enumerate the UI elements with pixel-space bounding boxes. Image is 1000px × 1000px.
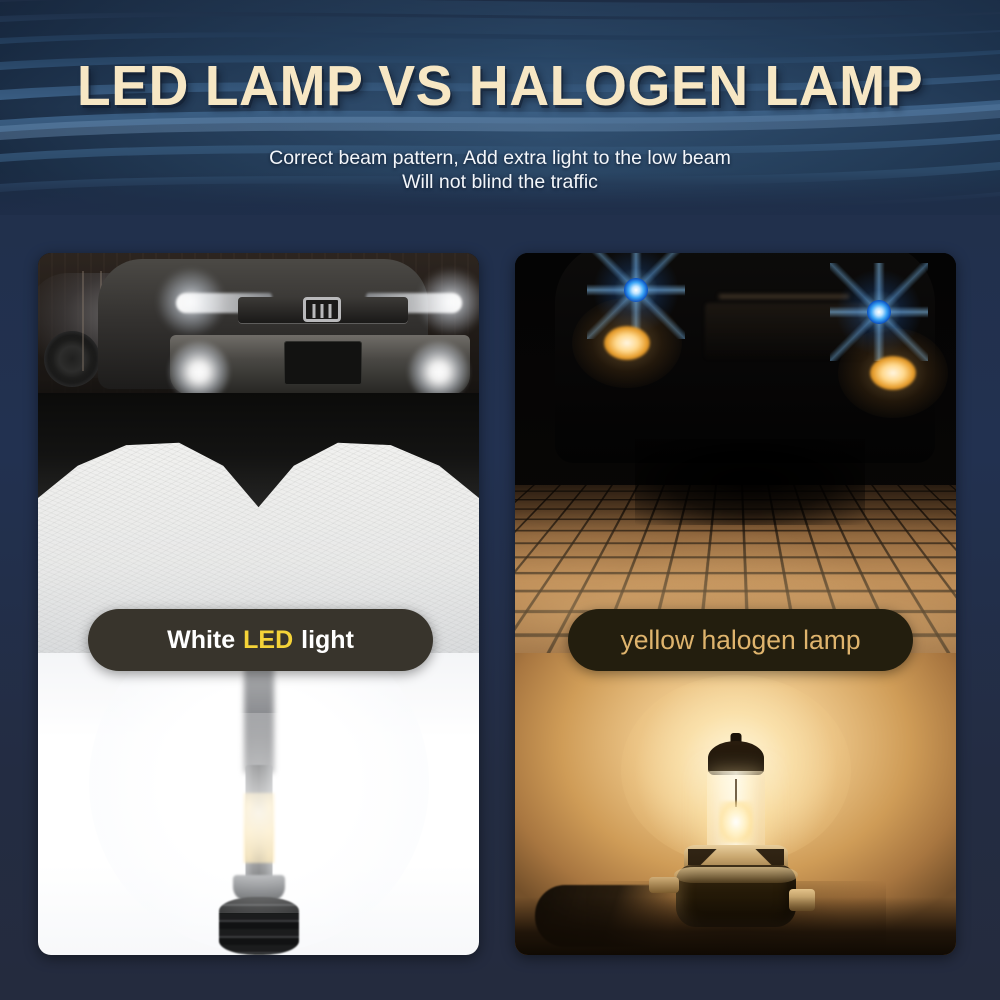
subtitle-line-1: Correct beam pattern, Add extra light to… xyxy=(0,147,1000,170)
license-plate xyxy=(284,341,362,385)
led-bulb-photo xyxy=(38,653,479,955)
page-title: LED LAMP VS HALOGEN LAMP xyxy=(15,53,985,119)
label-led-word-3: light xyxy=(301,626,354,655)
label-white-led-light: White LED light xyxy=(88,609,433,671)
label-halogen-text: yellow halogen lamp xyxy=(620,625,860,656)
led-bulb-haze xyxy=(174,713,344,913)
led-night-scene-photo xyxy=(38,253,479,653)
halogen-bulb-cap xyxy=(708,741,764,775)
label-yellow-halogen-lamp: yellow halogen lamp xyxy=(568,609,913,671)
poster-root: LED LAMP VS HALOGEN LAMP Correct beam pa… xyxy=(0,0,1000,1000)
car-shadow xyxy=(635,439,865,525)
halogen-night-scene-photo xyxy=(515,253,956,653)
label-led-word-2: LED xyxy=(243,626,293,655)
halogen-filament xyxy=(719,801,753,843)
comparison-panel-halogen xyxy=(515,253,956,955)
halogen-bulb-photo xyxy=(515,653,956,955)
halogen-bottom-vignette xyxy=(515,897,956,955)
halogen-bulb-tabs xyxy=(688,849,784,865)
civic-car-body xyxy=(98,259,428,389)
blue-accent-light-right xyxy=(867,300,891,324)
halogen-headlight-left xyxy=(604,326,650,360)
halogen-headlight-right xyxy=(870,356,916,390)
halogen-bulb-tab-left xyxy=(649,877,679,893)
header-banner: LED LAMP VS HALOGEN LAMP Correct beam pa… xyxy=(0,0,1000,232)
honda-emblem-icon xyxy=(303,297,341,322)
label-led-word-1: White xyxy=(167,626,235,655)
halogen-bulb-base-ring xyxy=(674,867,798,883)
subtitle-line-2: Will not blind the traffic xyxy=(0,171,1000,194)
comparison-panel-led xyxy=(38,253,479,955)
